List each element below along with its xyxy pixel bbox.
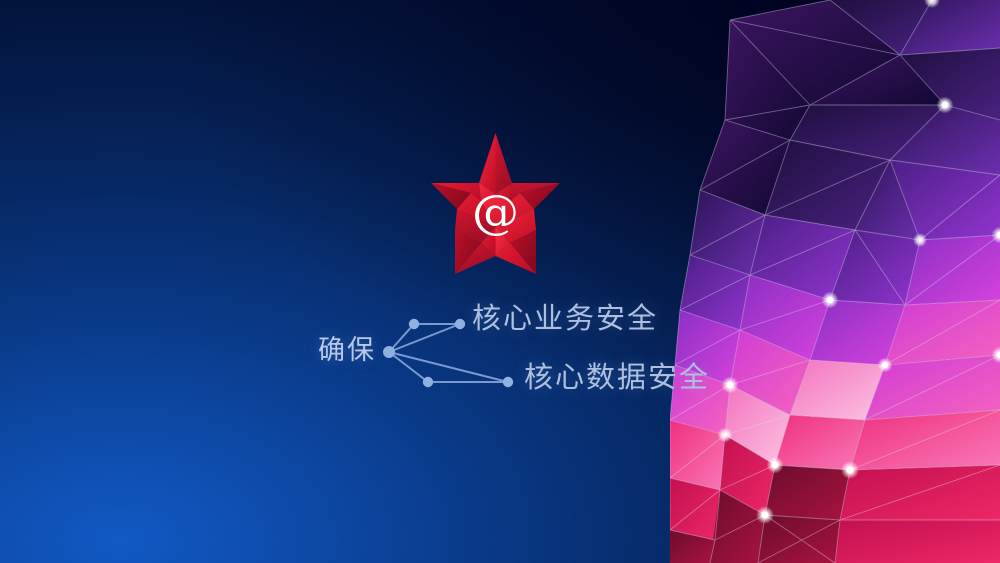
- low-poly-network-mesh: [670, 0, 1000, 563]
- diagram-branch-label-data: 核心数据安全: [524, 364, 710, 393]
- slide-canvas: @ 确保 核心业务安全 核心数据安全: [0, 0, 1000, 563]
- diagram-root-label: 确保: [318, 337, 376, 364]
- red-star-at-logo: @: [429, 131, 562, 276]
- diagram-branch-label-business: 核心业务安全: [472, 305, 658, 334]
